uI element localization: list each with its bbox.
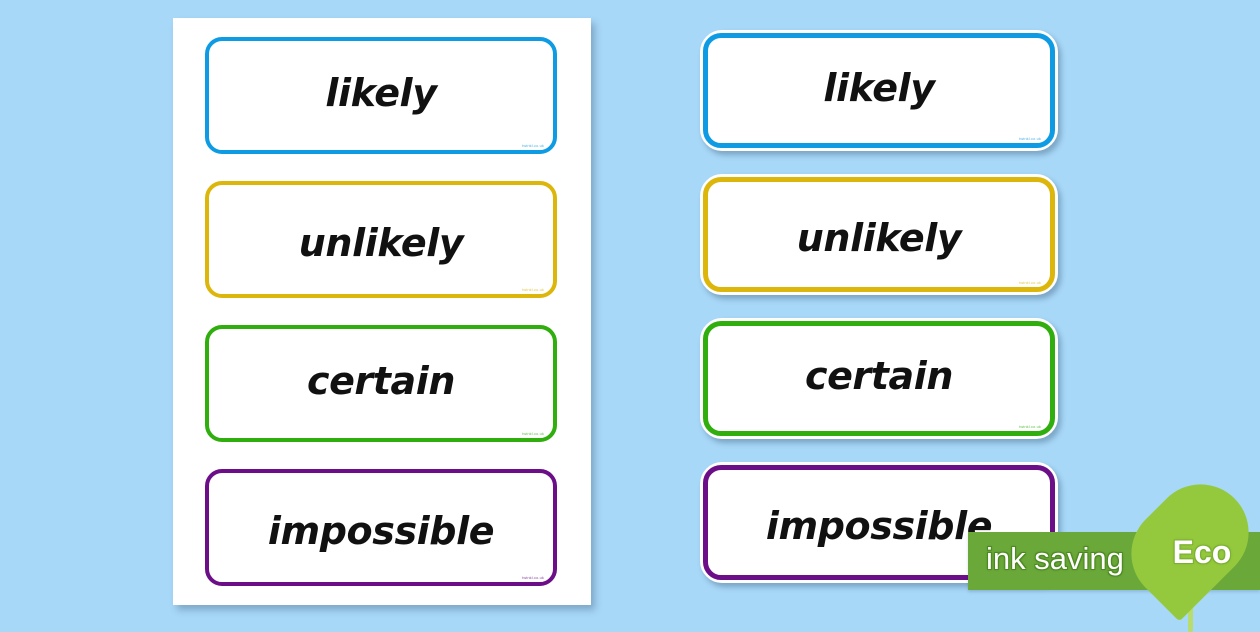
ink-saving-eco-badge: ink saving Eco xyxy=(968,532,1260,590)
worksheet-card-list: likely twinkl.co.uk unlikely twinkl.co.u… xyxy=(205,37,561,587)
watermark-text: twinkl.co.uk xyxy=(1019,281,1041,285)
cut-out-card-unlikely[interactable]: unlikely twinkl.co.uk xyxy=(700,174,1058,295)
worksheet-card-impossible[interactable]: impossible twinkl.co.uk xyxy=(205,469,557,586)
ink-saving-label: ink saving xyxy=(986,543,1124,574)
worksheet-card-certain[interactable]: certain twinkl.co.uk xyxy=(205,325,557,442)
watermark-text: twinkl.co.uk xyxy=(522,432,544,436)
card-word-label: unlikely xyxy=(209,224,553,262)
card-word-label: unlikely xyxy=(708,219,1050,257)
worksheet-card-unlikely[interactable]: unlikely twinkl.co.uk xyxy=(205,181,557,298)
card-border: unlikely twinkl.co.uk xyxy=(703,177,1055,292)
card-word-label: certain xyxy=(209,361,553,399)
watermark-text: twinkl.co.uk xyxy=(522,576,544,580)
eco-label: Eco xyxy=(1154,536,1250,568)
card-border: certain twinkl.co.uk xyxy=(703,321,1055,436)
cut-out-card-certain[interactable]: certain twinkl.co.uk xyxy=(700,318,1058,439)
card-word-label: likely xyxy=(708,68,1050,106)
card-border: likely twinkl.co.uk xyxy=(703,33,1055,148)
watermark-text: twinkl.co.uk xyxy=(522,288,544,292)
card-word-label: likely xyxy=(209,73,553,111)
worksheet-card-likely[interactable]: likely twinkl.co.uk xyxy=(205,37,557,154)
card-word-label: impossible xyxy=(209,512,553,550)
screenshot-canvas: likely twinkl.co.uk unlikely twinkl.co.u… xyxy=(0,0,1260,630)
cut-out-card-list: likely twinkl.co.uk unlikely twinkl.co.u… xyxy=(700,30,1060,600)
watermark-text: twinkl.co.uk xyxy=(1019,425,1041,429)
cut-out-card-likely[interactable]: likely twinkl.co.uk xyxy=(700,30,1058,151)
card-word-label: certain xyxy=(708,356,1050,394)
watermark-text: twinkl.co.uk xyxy=(522,144,544,148)
watermark-text: twinkl.co.uk xyxy=(1019,137,1041,141)
leaf-icon: Eco xyxy=(1142,480,1238,632)
printed-worksheet: likely twinkl.co.uk unlikely twinkl.co.u… xyxy=(173,18,591,605)
